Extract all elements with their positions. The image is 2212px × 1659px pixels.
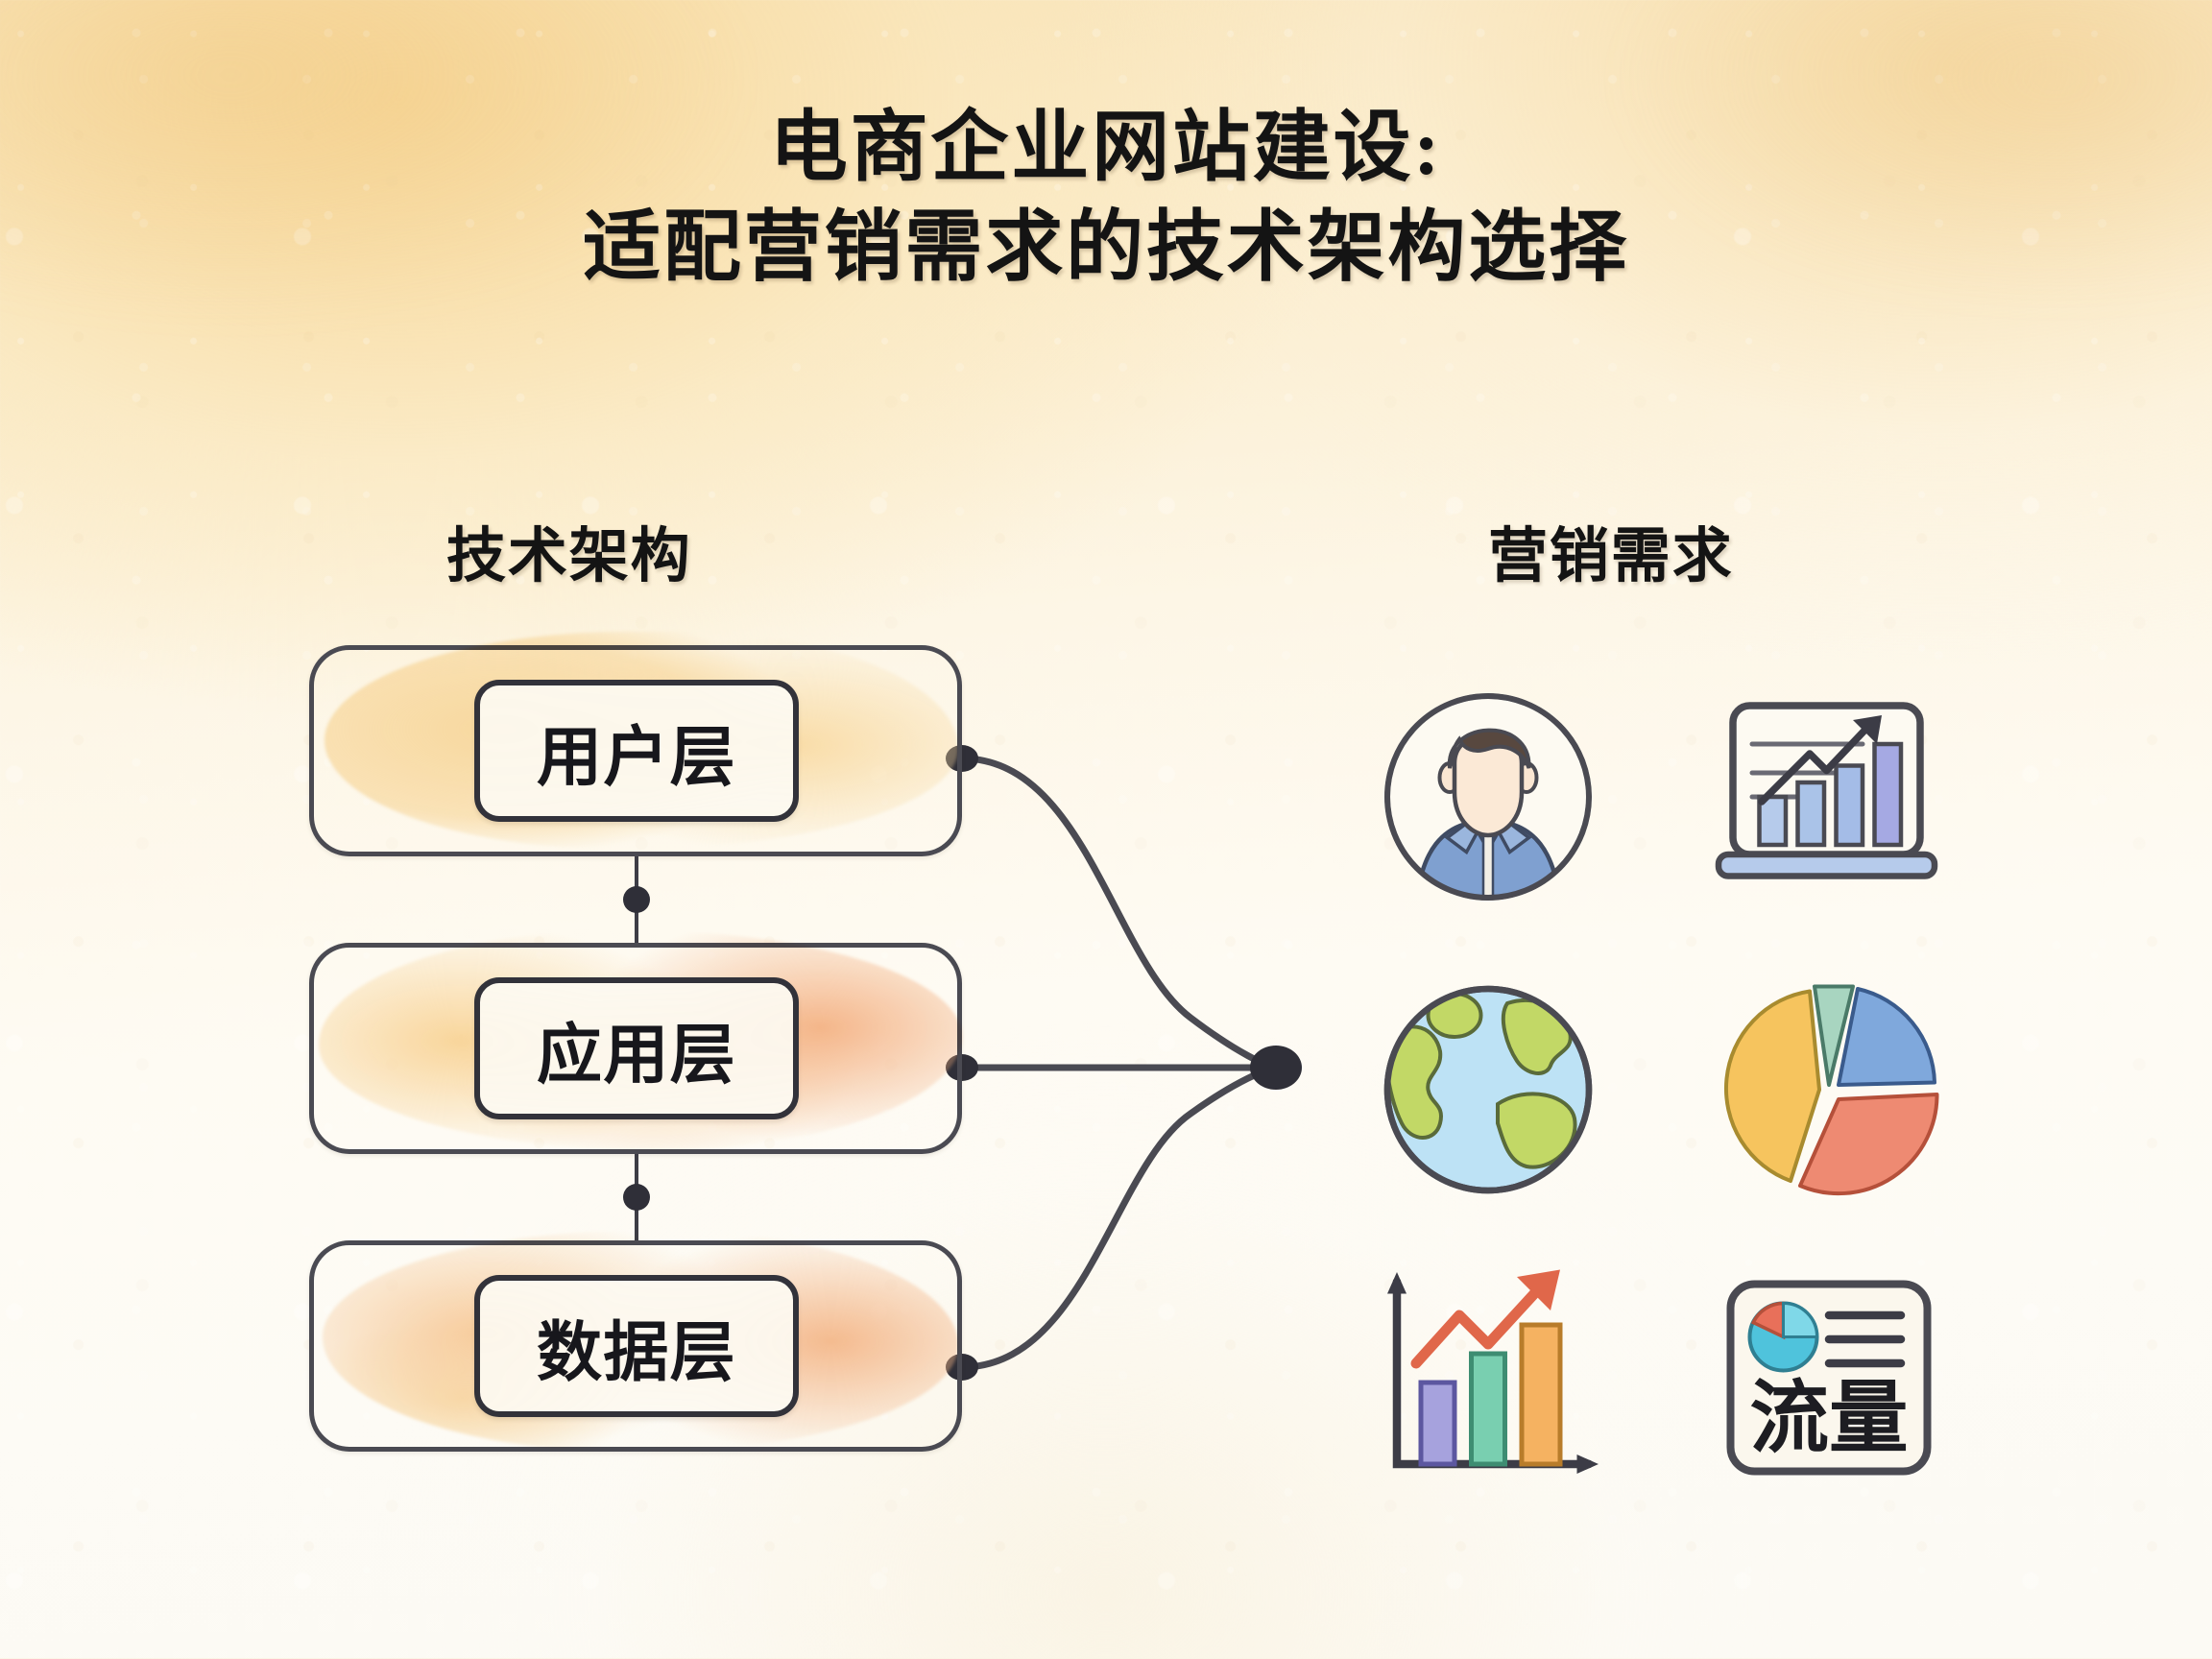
connector-curve-data-layer [962,1068,1274,1367]
layer-label-application: 应用层 [537,1001,736,1096]
traffic-report-caption: 流量 [1750,1374,1909,1462]
icon-cell-globe[interactable] [1344,946,1632,1234]
icon-cell-pie-chart[interactable] [1690,946,1978,1234]
layer-inner-frame: 用户层 [474,680,799,822]
icon-cell-growth-chart[interactable] [1690,653,1978,941]
left-column-header: 技术架构 [446,507,691,593]
connector-hub-node [1250,1046,1302,1090]
layer-inner-frame: 数据层 [474,1275,799,1417]
right-column-header: 营销需求 [1488,507,1733,593]
layer-connector-dot-2 [623,1184,650,1211]
user-avatar-icon [1368,677,1608,917]
title-line-1: 电商企业网站建设: [0,104,2212,194]
slide-title: 电商企业网站建设: 适配营销需求的技术架构选择 [0,104,2212,294]
traffic-report-icon: 流量 [1714,1262,1954,1503]
layer-label-user: 用户层 [537,704,736,799]
icon-cell-user[interactable] [1344,653,1632,941]
pie-chart-icon [1714,970,1954,1210]
architecture-layer-data[interactable]: 数据层 [309,1240,962,1452]
bar-chart-trend-icon [1368,1262,1608,1503]
icon-cell-bar-chart-trend[interactable] [1344,1238,1632,1527]
layer-inner-frame: 应用层 [474,977,799,1119]
icon-cell-traffic-report[interactable]: 流量 [1690,1238,1978,1527]
layer-connector-dot-1 [623,886,650,913]
layer-label-data: 数据层 [537,1299,736,1394]
growth-chart-screen-icon [1714,677,1954,917]
title-line-2: 适配营销需求的技术架构选择 [0,204,2212,294]
architecture-layer-user[interactable]: 用户层 [309,645,962,856]
marketing-needs-icon-grid: 流量 [1344,653,2016,1517]
globe-icon [1368,970,1608,1210]
architecture-stack: 用户层 应用层 数据层 [309,645,962,1490]
connector-curve-user-layer [962,758,1274,1068]
architecture-layer-application[interactable]: 应用层 [309,943,962,1154]
